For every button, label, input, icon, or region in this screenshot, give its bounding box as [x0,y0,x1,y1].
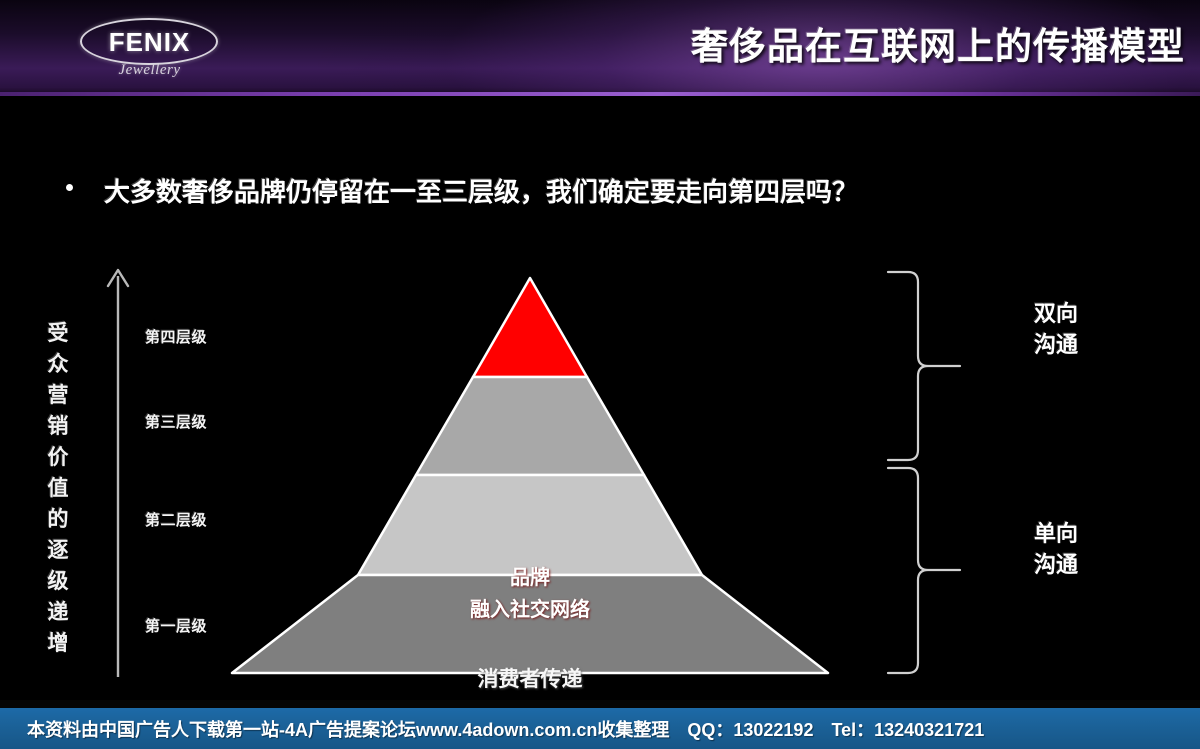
pyramid-layer-3-shape[interactable] [416,377,644,475]
brand-logo: FENIX Jewellery [72,14,227,86]
side-label-two-way-line-2: 沟通 [1034,329,1078,360]
page-title: 奢侈品在互联网上的传播模型 [575,16,1185,70]
axis-char: 受 [38,318,78,349]
bullet-dot-icon [66,184,73,191]
brace-upper-icon [888,272,960,460]
footer-cap-divider [0,700,1200,708]
axis-char: 增 [38,628,78,659]
level-label-3: 第三层级 [145,411,207,432]
level-label-4: 第四层级 [145,326,207,347]
level-label-2: 第二层级 [145,509,207,530]
axis-char: 价 [38,442,78,473]
side-label-one-way-line-2: 沟通 [1034,549,1078,580]
axis-char: 级 [38,566,78,597]
logo-wordmark: FENIX [72,27,227,58]
upward-arrow-icon [100,262,140,682]
slide-canvas: FENIX Jewellery 奢侈品在互联网上的传播模型 大多数奢侈品牌仍停留… [0,0,1200,749]
axis-char: 销 [38,411,78,442]
footer-bar: 本资料由中国广告人下载第一站-4A广告提案论坛www.4adown.com.cn… [0,708,1200,749]
side-label-two-way: 双向 沟通 [1034,298,1078,360]
axis-char: 递 [38,597,78,628]
level-label-1: 第一层级 [145,615,207,636]
pyramid-layer-1-shape[interactable] [232,575,828,673]
side-label-two-way-line-1: 双向 [1034,298,1078,329]
brace-group [880,255,990,685]
header-underline-divider [0,92,1200,96]
side-label-one-way-line-1: 单向 [1034,518,1078,549]
side-label-one-way: 单向 沟通 [1034,518,1078,580]
axis-char: 逐 [38,535,78,566]
axis-char: 营 [38,380,78,411]
bullet-text: 大多数奢侈品牌仍停留在一至三层级，我们确定要走向第四层吗？ [104,172,858,209]
pyramid-layer-2-shape[interactable] [358,475,702,575]
axis-char: 的 [38,504,78,535]
footer-credit-text: 本资料由中国广告人下载第一站-4A广告提案论坛www.4adown.com.cn… [0,716,984,742]
axis-char: 值 [38,473,78,504]
pyramid-diagram: 品牌 融入社交网络 消费者传递 产品使用心得 产品促销和介绍 品牌信息公告 [215,262,845,687]
pyramid-layer-4-shape[interactable] [473,278,587,377]
bullet-row: 大多数奢侈品牌仍停留在一至三层级，我们确定要走向第四层吗？ [66,172,1146,212]
axis-label-vertical: 受 众 营 销 价 值 的 逐 级 递 增 [38,318,78,659]
brace-lower-icon [888,468,960,673]
pyramid-svg [215,262,845,687]
slide-header: FENIX Jewellery 奢侈品在互联网上的传播模型 [0,0,1200,95]
logo-tagline: Jewellery [72,62,227,79]
axis-char: 众 [38,349,78,380]
